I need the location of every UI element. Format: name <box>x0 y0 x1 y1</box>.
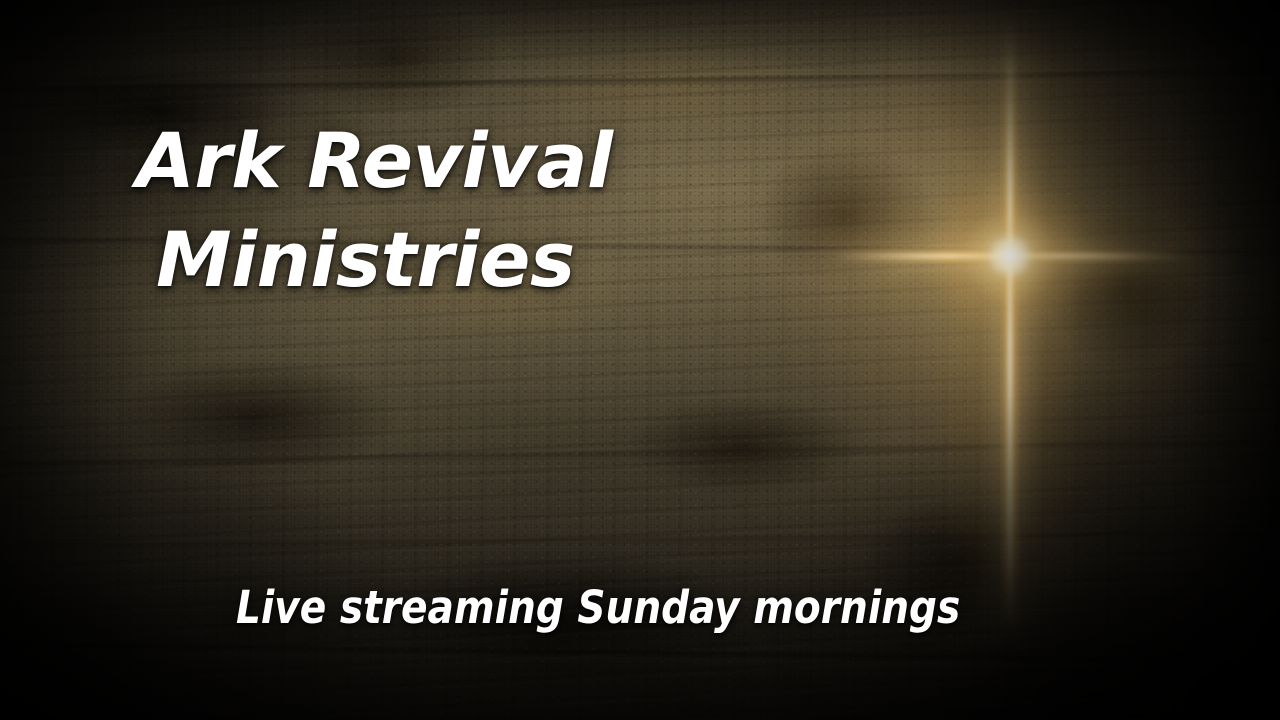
title-line-1: Ark Revival <box>136 112 776 211</box>
banner-canvas: Ark Revival Ministries Live streaming Su… <box>0 0 1280 720</box>
streaming-tagline: Live streaming Sunday mornings <box>236 585 960 630</box>
title-line-2: Ministries <box>136 211 776 310</box>
ministry-title: Ark Revival Ministries <box>136 112 776 310</box>
text-overlay: Ark Revival Ministries Live streaming Su… <box>0 0 1280 720</box>
